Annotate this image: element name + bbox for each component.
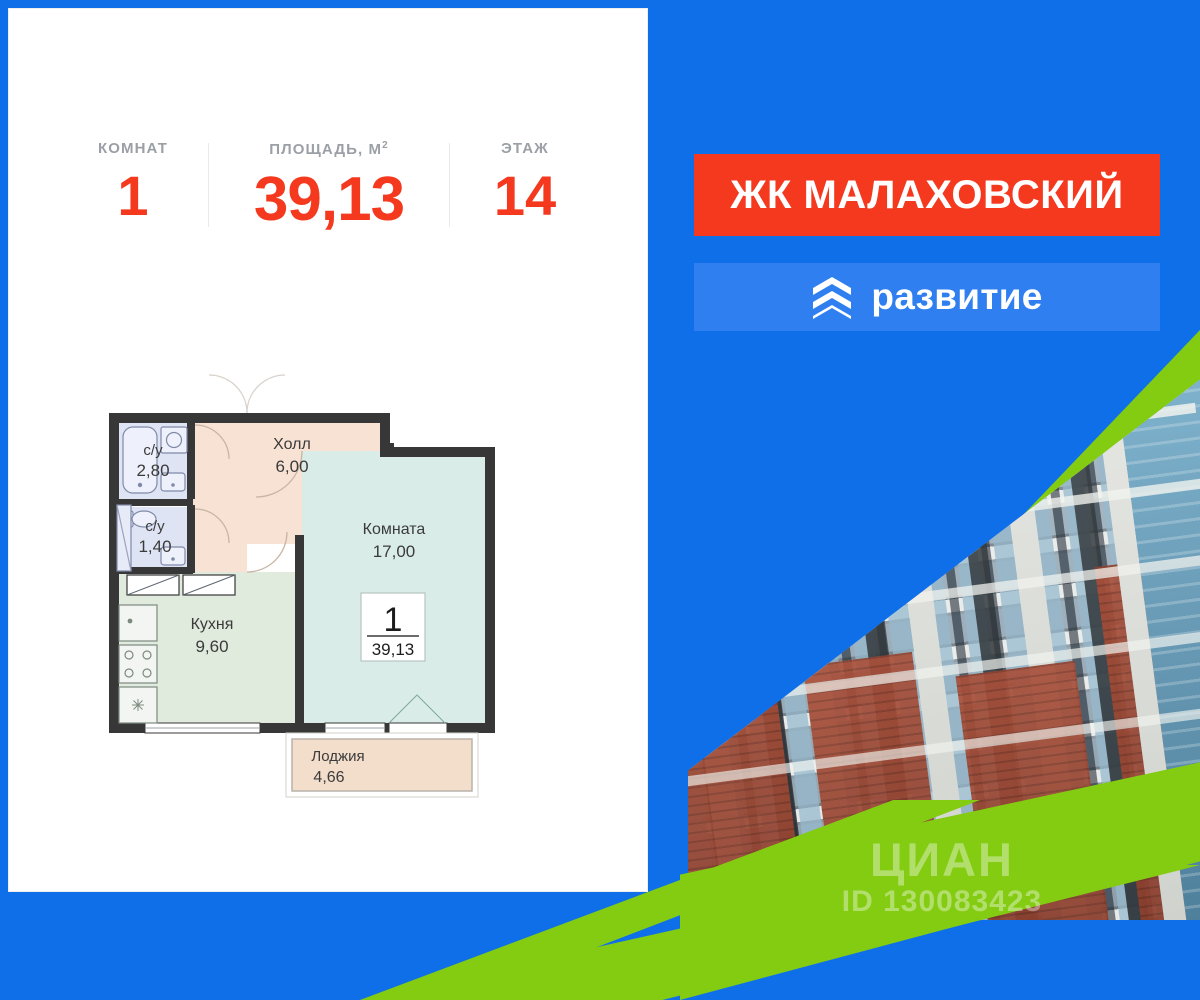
stat-rooms-label: КОМНАТ: [84, 141, 182, 156]
room-label-bath1-name: с/у: [143, 442, 163, 459]
developer-name-text: развитие: [871, 276, 1042, 318]
room-label-kitchen-area: 9,60: [195, 637, 228, 656]
room-label-livingroom-area: 17,00: [373, 542, 416, 561]
room-label-bath1-area: 2,80: [136, 461, 169, 480]
room-label-hall-name: Холл: [273, 436, 311, 453]
stat-area-label: ПЛОЩАДЬ, М2: [235, 141, 423, 157]
stat-floor-label: ЭТАЖ: [476, 141, 574, 156]
floor-plan-svg: с/у 2,80 с/у 1,40 Холл 6,00 Комната 17,0…: [97, 339, 577, 809]
stat-rooms: КОМНАТ 1: [58, 141, 208, 224]
badge-rooms-value: 1: [384, 601, 403, 639]
room-label-livingroom-name: Комната: [363, 521, 426, 538]
chevrons-up-icon: [811, 275, 853, 319]
complex-name-banner: ЖК МАЛАХОВСКИЙ: [694, 154, 1160, 236]
stat-area-label-sup: 2: [382, 140, 389, 151]
stat-area-label-text: ПЛОЩАДЬ, М: [269, 141, 382, 158]
room-label-hall-area: 6,00: [275, 457, 308, 476]
room-label-kitchen-name: Кухня: [191, 616, 234, 633]
stat-area: ПЛОЩАДЬ, М2 39,13: [209, 141, 449, 231]
room-label-loggia-name: Лоджия: [311, 748, 364, 765]
stat-area-value: 39,13: [235, 169, 423, 231]
advertisement-card: ЦИАН ID 130083423 ЖК МАЛАХОВСКИЙ развити…: [0, 0, 1200, 1000]
room-label-bath2-area: 1,40: [138, 537, 171, 556]
room-label-bath2-name: с/у: [145, 518, 165, 535]
room-label-loggia-area: 4,66: [313, 769, 344, 786]
room-fill-livingroom: [302, 451, 487, 724]
apartment-stats: КОМНАТ 1 ПЛОЩАДЬ, М2 39,13 ЭТАЖ 14: [9, 141, 649, 231]
complex-name-text: ЖК МАЛАХОВСКИЙ: [730, 173, 1123, 218]
stat-floor-value: 14: [476, 168, 574, 224]
kitchen-fixtures: [119, 605, 157, 723]
badge-area-value: 39,13: [372, 640, 415, 659]
stat-rooms-value: 1: [84, 168, 182, 224]
developer-banner: развитие: [694, 263, 1160, 331]
floor-plan: с/у 2,80 с/у 1,40 Холл 6,00 Комната 17,0…: [97, 339, 577, 809]
stat-floor: ЭТАЖ 14: [450, 141, 600, 224]
apartment-badge: 1 39,13: [361, 593, 425, 661]
floorplan-card: КОМНАТ 1 ПЛОЩАДЬ, М2 39,13 ЭТАЖ 14: [8, 8, 648, 892]
